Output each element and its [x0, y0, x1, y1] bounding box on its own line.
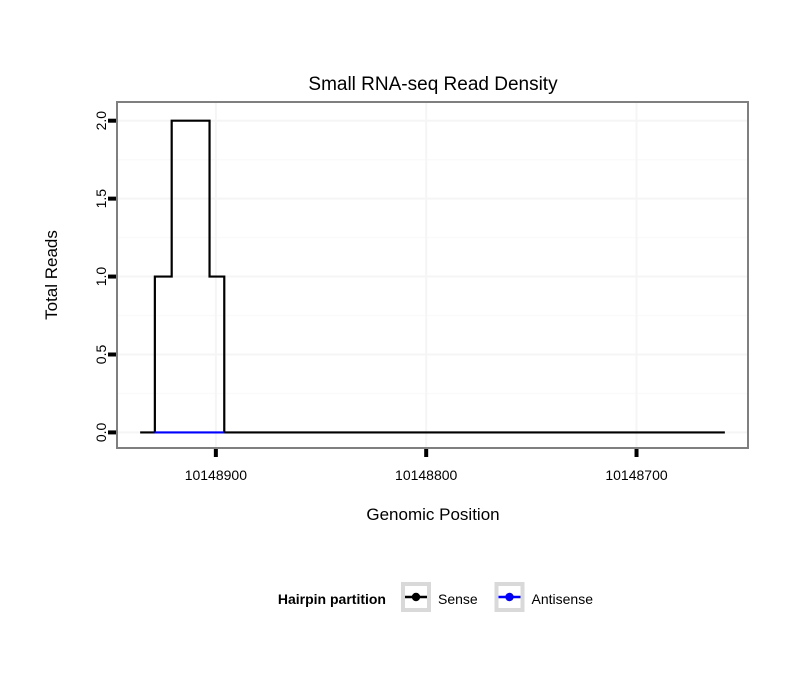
y-tick-label: 2.0: [93, 111, 109, 131]
legend-key-point-sense: [412, 593, 420, 601]
y-tick-label: 0.5: [93, 345, 109, 365]
y-tick-label: 1.0: [93, 267, 109, 287]
legend-label-sense[interactable]: Sense: [438, 591, 478, 607]
x-axis-title: Genomic Position: [366, 505, 499, 524]
legend-label-antisense[interactable]: Antisense: [532, 591, 594, 607]
plot-panel-background: [117, 102, 748, 448]
legend-title: Hairpin partition: [278, 591, 386, 607]
x-tick-label: 10148800: [395, 467, 458, 483]
x-tick-label: 10148700: [605, 467, 668, 483]
chart-title: Small RNA-seq Read Density: [308, 74, 558, 95]
read-density-chart: 0.00.51.01.52.0101489001014880010148700 …: [0, 0, 810, 690]
y-tick-label: 1.5: [93, 189, 109, 209]
legend[interactable]: Hairpin partition SenseAntisense: [278, 584, 593, 610]
x-tick-label: 10148900: [185, 467, 248, 483]
legend-key-point-antisense: [505, 593, 513, 601]
y-axis-title: Total Reads: [42, 230, 61, 320]
y-tick-label: 0.0: [93, 422, 109, 442]
chart-figure: 0.00.51.01.52.0101489001014880010148700 …: [0, 0, 810, 690]
